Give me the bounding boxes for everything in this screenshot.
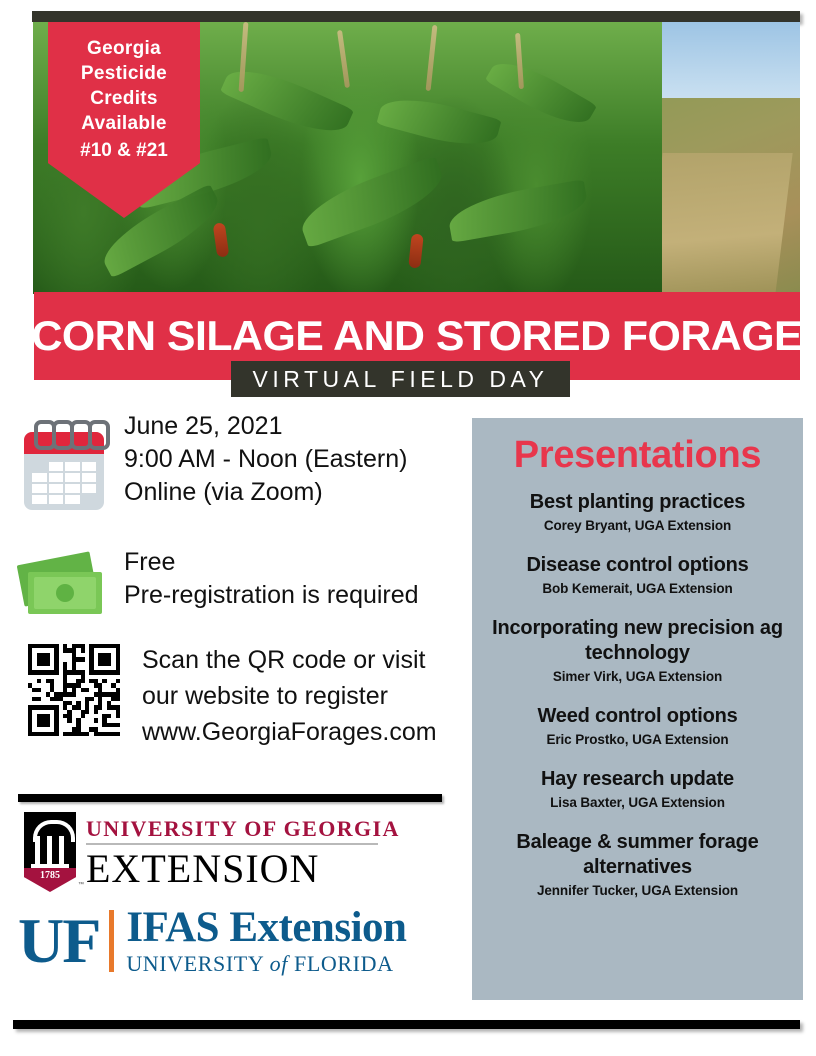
page-subtitle: VIRTUAL FIELD DAY (253, 366, 549, 393)
uf-sub-of: of (270, 951, 288, 976)
flyer-page: Georgia Pesticide Credits Available #10 … (0, 0, 816, 1056)
uga-arch-icon: 1785 ™ (18, 812, 80, 892)
presentation-title: Best planting practices (482, 490, 793, 515)
qr-instructions: Scan the QR code or visit our website to… (142, 642, 437, 750)
presentation-presenter: Bob Kemerait, UGA Extension (482, 579, 793, 599)
qr-code[interactable] (28, 644, 120, 736)
dirt-path (646, 153, 794, 294)
badge-line-2: Pesticide (56, 61, 192, 86)
list-item: Baleage & summer forage alternatives Jen… (482, 830, 793, 901)
subtitle-box: VIRTUAL FIELD DAY (231, 361, 570, 397)
bottom-divider-rule (13, 1020, 800, 1029)
trademark-mark: ™ (78, 882, 84, 888)
corn-cob (409, 234, 424, 269)
event-date: June 25, 2021 (124, 410, 407, 443)
uf-ifas-extension-logo: UF IFAS Extension UNIVERSITY of FLORIDA (18, 904, 468, 977)
event-details-column: June 25, 2021 9:00 AM - Noon (Eastern) O… (18, 410, 458, 750)
list-item: Disease control options Bob Kemerait, UG… (482, 553, 793, 599)
uf-sub-post: FLORIDA (294, 951, 394, 976)
money-icon (18, 554, 110, 616)
presentations-heading: Presentations (482, 432, 793, 478)
presentation-title: Disease control options (482, 553, 793, 578)
badge-line-4: Available (56, 111, 192, 136)
sponsor-logos: 1785 ™ UNIVERSITY OF GEORGIA EXTENSION U… (18, 812, 468, 977)
corn-cob (213, 223, 230, 258)
date-time-row: June 25, 2021 9:00 AM - Noon (Eastern) O… (18, 410, 458, 514)
list-item: Best planting practices Corey Bryant, UG… (482, 490, 793, 536)
badge-line-1: Georgia (56, 36, 192, 61)
cost-row: Free Pre-registration is required (18, 540, 458, 616)
badge-line-3: Credits (56, 86, 192, 111)
uga-university-text: UNIVERSITY OF GEORGIA (86, 816, 400, 842)
presentation-presenter: Simer Virk, UGA Extension (482, 667, 793, 687)
calendar-icon (18, 422, 110, 514)
uf-wordmark: IFAS Extension UNIVERSITY of FLORIDA (126, 904, 406, 977)
presentation-presenter: Jennifer Tucker, UGA Extension (482, 881, 793, 901)
presentation-presenter: Eric Prostko, UGA Extension (482, 730, 793, 750)
uf-university-text: UNIVERSITY of FLORIDA (126, 951, 406, 977)
uf-ifas-text: IFAS Extension (126, 906, 406, 950)
list-item: Incorporating new precision ag technolog… (482, 616, 793, 687)
event-cost: Free (124, 546, 419, 579)
uga-extension-text: EXTENSION (86, 847, 400, 891)
uga-wordmark: UNIVERSITY OF GEORGIA EXTENSION (86, 812, 400, 891)
logos-divider-rule (18, 794, 442, 802)
presentation-title: Baleage & summer forage alternatives (482, 830, 793, 880)
presentation-title: Incorporating new precision ag technolog… (482, 616, 793, 666)
presentations-panel: Presentations Best planting practices Co… (472, 418, 803, 1000)
presentation-presenter: Lisa Baxter, UGA Extension (482, 793, 793, 813)
presentation-title: Weed control options (482, 704, 793, 729)
website-url[interactable]: www.GeorgiaForages.com (142, 714, 437, 750)
badge-credit-numbers: #10 & #21 (56, 138, 192, 164)
presentation-title: Hay research update (482, 767, 793, 792)
uga-extension-logo: 1785 ™ UNIVERSITY OF GEORGIA EXTENSION (18, 812, 468, 892)
page-title: CORN SILAGE AND STORED FORAGE (32, 315, 803, 357)
event-time: 9:00 AM - Noon (Eastern) (124, 443, 407, 476)
uga-shield: 1785 (24, 868, 76, 892)
registration-note: Pre-registration is required (124, 579, 419, 612)
list-item: Hay research update Lisa Baxter, UGA Ext… (482, 767, 793, 813)
qr-line-1: Scan the QR code or visit (142, 642, 437, 678)
qr-row: Scan the QR code or visit our website to… (18, 642, 458, 750)
event-location: Online (via Zoom) (124, 476, 407, 509)
presentation-presenter: Corey Bryant, UGA Extension (482, 516, 793, 536)
list-item: Weed control options Eric Prostko, UGA E… (482, 704, 793, 750)
cost-text: Free Pre-registration is required (124, 546, 419, 612)
presentations-list: Best planting practices Corey Bryant, UG… (482, 490, 793, 901)
uga-founding-year: 1785 (40, 870, 60, 881)
qr-line-2: our website to register (142, 678, 437, 714)
date-time-text: June 25, 2021 9:00 AM - Noon (Eastern) O… (124, 410, 407, 509)
uf-sub-pre: UNIVERSITY (126, 951, 263, 976)
uf-divider-bar (109, 910, 114, 972)
uga-rule (86, 843, 378, 845)
top-divider-rule (32, 11, 800, 22)
uf-monogram: UF (18, 909, 99, 973)
